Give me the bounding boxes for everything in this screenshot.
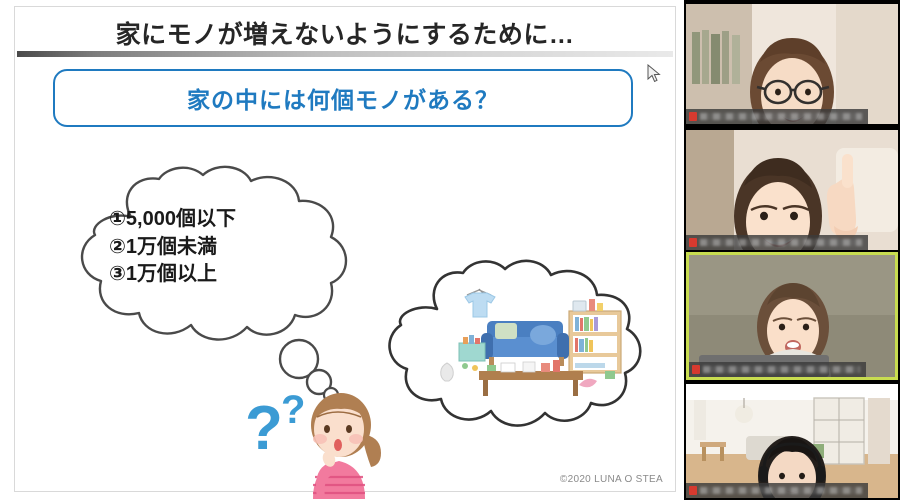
answers-thought-bubble: ①5,000個以下 ②1万個未満 ③1万個以上 xyxy=(73,165,363,350)
answer-option-1: ①5,000個以下 xyxy=(109,207,339,233)
shared-slide: 家にモノが増えないようにするために… 家の中には何個モノがある？ ①5,000個… xyxy=(0,0,684,500)
participant-tile[interactable] xyxy=(686,384,898,498)
participant-video xyxy=(686,4,898,124)
participant-name-blurred xyxy=(700,239,862,246)
room-thought-bubble xyxy=(383,259,651,429)
participant-name-blurred xyxy=(703,366,860,373)
title-divider xyxy=(17,51,673,57)
mouse-cursor xyxy=(647,64,663,84)
question-mark-icon: ? xyxy=(281,388,305,432)
participant-name-blurred xyxy=(700,487,862,494)
screen-share-window: 家にモノが増えないようにするために… 家の中には何個モノがある？ ①5,000個… xyxy=(0,0,900,500)
participant-name-bar xyxy=(686,109,868,124)
participant-video xyxy=(686,384,898,498)
answer-option-2: ②1万個未満 xyxy=(109,235,339,261)
participant-tile[interactable] xyxy=(686,4,898,124)
participant-video-panel xyxy=(684,0,900,500)
copyright-notice: ©2020 LUNA O STEA xyxy=(560,474,663,485)
cloud-shape-icon xyxy=(383,259,651,429)
slide-title: 家にモノが増えないようにするために… xyxy=(15,15,675,51)
participant-video xyxy=(689,255,895,377)
mic-muted-icon xyxy=(689,486,697,495)
question-text: 家の中には何個モノがある？ xyxy=(187,81,499,115)
question-box: 家の中には何個モノがある？ xyxy=(53,69,633,127)
slide-frame: 家にモノが増えないようにするために… 家の中には何個モノがある？ ①5,000個… xyxy=(14,6,676,492)
participant-name-bar xyxy=(686,483,868,498)
participant-tile-active-speaker[interactable] xyxy=(686,252,898,380)
question-mark-icon: ? xyxy=(245,394,283,463)
participant-tile[interactable] xyxy=(686,130,898,250)
answer-option-3: ③1万個以上 xyxy=(109,262,339,288)
svg-text:?: ? xyxy=(281,388,305,432)
participant-name-bar xyxy=(686,235,868,250)
svg-text:?: ? xyxy=(245,394,283,463)
participant-name-blurred xyxy=(700,113,862,120)
participant-video xyxy=(686,130,898,250)
mic-muted-icon xyxy=(689,112,697,121)
mic-muted-icon xyxy=(689,238,697,247)
thinking-woman-illustration: ? ? xyxy=(243,379,393,499)
answers-list: ①5,000個以下 ②1万個未満 ③1万個以上 xyxy=(109,207,339,288)
participant-name-bar xyxy=(689,362,866,377)
mic-muted-icon xyxy=(692,365,700,374)
